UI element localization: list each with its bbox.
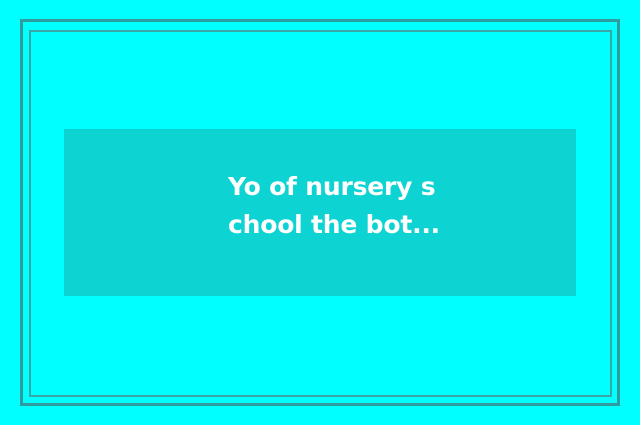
panel-text: Yo of nursery s chool the bot... [228,168,558,244]
slide-canvas: Yo of nursery s chool the bot... [0,0,640,425]
content-panel: Yo of nursery s chool the bot... [64,129,576,296]
